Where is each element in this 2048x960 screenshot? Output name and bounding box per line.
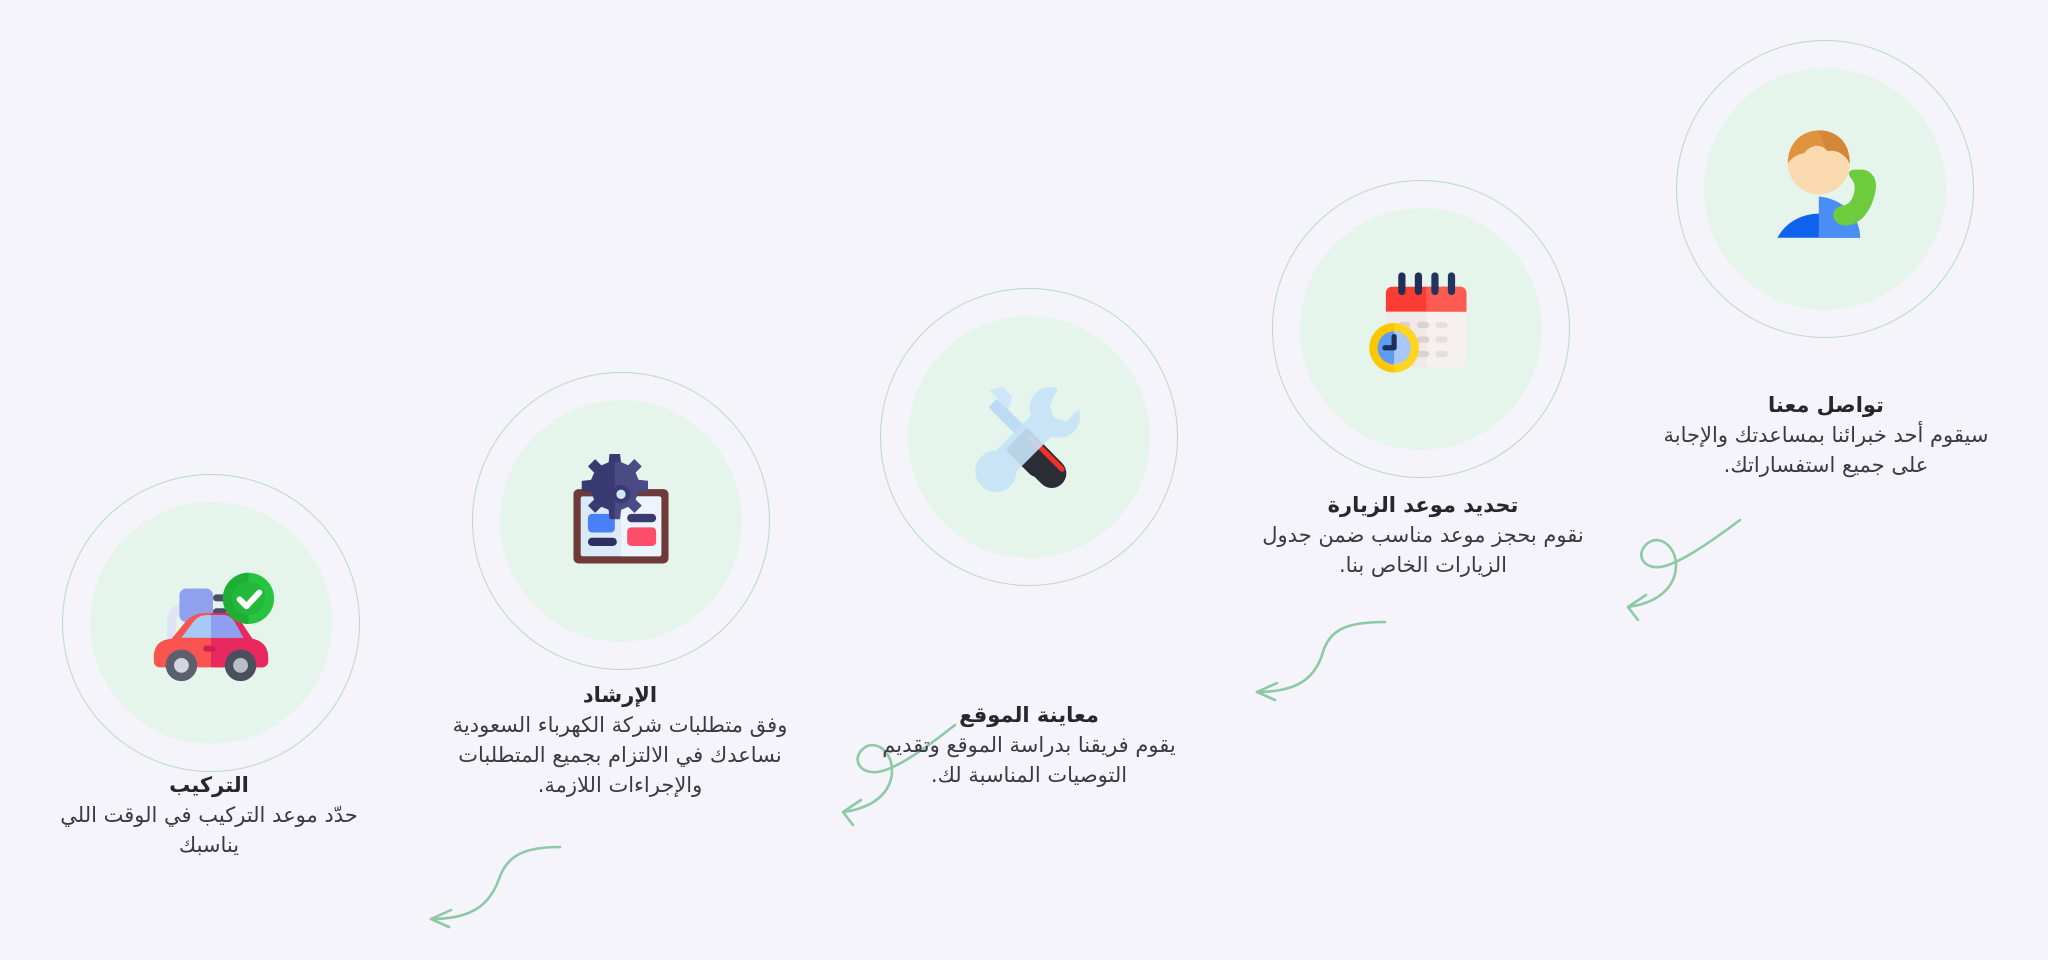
step-2-text: الإرشاد وفق متطلبات شركة الكهرباء السعود… xyxy=(450,680,790,801)
step-1-text: التركيب حدّد موعد التركيب في الوقت اللي … xyxy=(34,770,384,861)
step-1-title: التركيب xyxy=(34,770,384,800)
step-4-circle xyxy=(1272,180,1570,478)
step-5-title: تواصل معنا xyxy=(1646,390,2006,420)
step-4-title: تحديد موعد الزيارة xyxy=(1248,490,1598,520)
step-3-body: يقوم فريقنا بدراسة الموقع وتقديم التوصيا… xyxy=(854,731,1204,791)
support-agent-phone-icon xyxy=(1763,120,1887,244)
step-3-text: معاينة الموقع يقوم فريقنا بدراسة الموقع … xyxy=(854,700,1204,791)
step-5-text: تواصل معنا سيقوم أحد خبرائنا بمساعدتك وا… xyxy=(1646,390,2006,481)
step-2-body: وفق متطلبات شركة الكهرباء السعودية نساعد… xyxy=(450,711,790,800)
arrow-step2-to-step1 xyxy=(375,825,585,945)
calendar-clock-icon xyxy=(1359,262,1483,386)
electric-car-plug-check-icon xyxy=(142,562,280,686)
step-1-body: حدّد موعد التركيب في الوقت اللي يناسبك xyxy=(34,801,384,861)
step-1-circle xyxy=(62,474,360,772)
step-5-body: سيقوم أحد خبرائنا بمساعدتك والإجابة على … xyxy=(1646,421,2006,481)
step-4-body: نقوم بحجز موعد مناسب ضمن جدول الزيارات ا… xyxy=(1248,521,1598,581)
step-3-title: معاينة الموقع xyxy=(854,700,1204,730)
arrow-step5-to-step4 xyxy=(1580,495,1800,625)
step-5-circle xyxy=(1676,40,1974,338)
step-3-circle xyxy=(880,288,1178,586)
process-flow-infographic: تواصل معنا سيقوم أحد خبرائنا بمساعدتك وا… xyxy=(0,0,2048,960)
wrench-screwdriver-icon xyxy=(967,370,1091,494)
arrow-step4-to-step3 xyxy=(1195,600,1405,720)
step-2-title: الإرشاد xyxy=(450,680,790,710)
step-4-text: تحديد موعد الزيارة نقوم بحجز موعد مناسب … xyxy=(1248,490,1598,581)
clipboard-gear-icon xyxy=(559,454,683,578)
step-2-circle xyxy=(472,372,770,670)
